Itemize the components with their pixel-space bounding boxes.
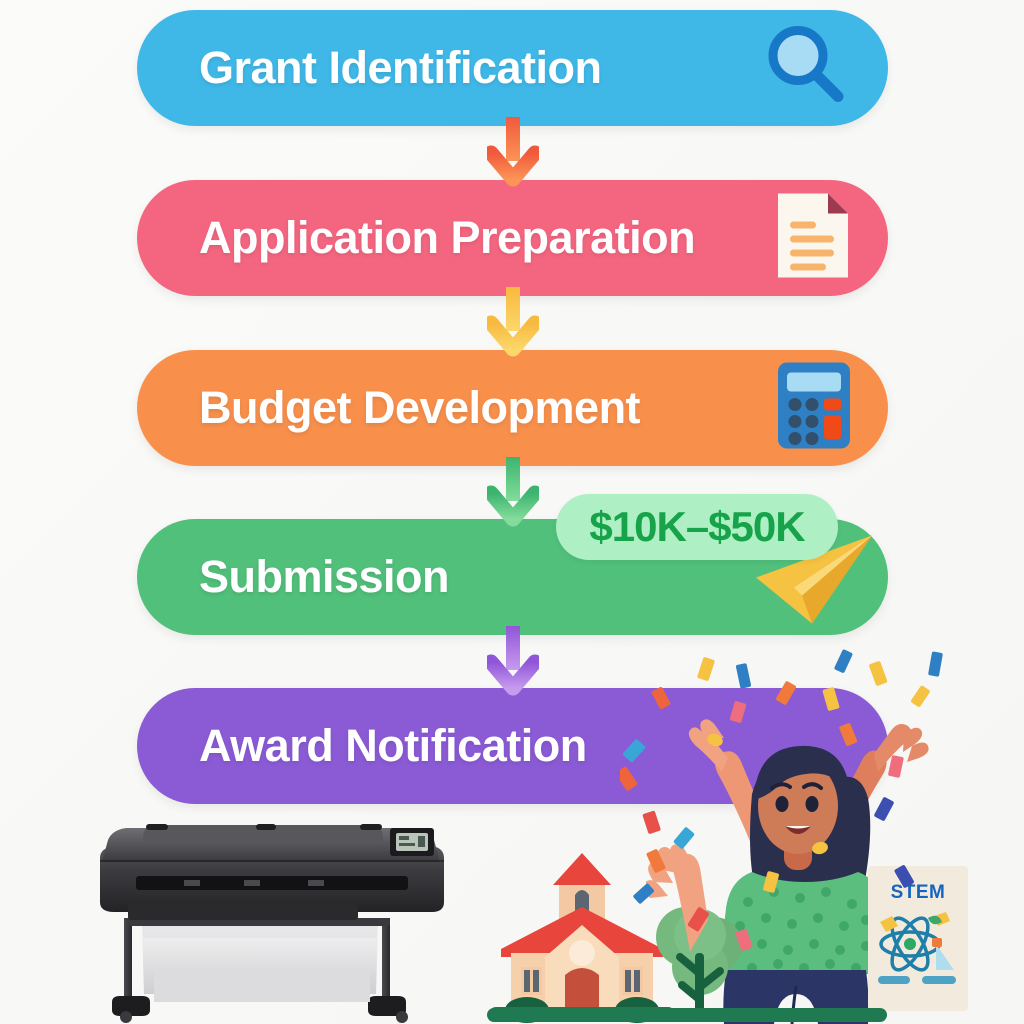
ground-bar — [487, 1008, 887, 1022]
flow-arrow-3 — [487, 457, 539, 531]
calculator-icon — [774, 360, 854, 457]
infographic-canvas: Grant Identification Application Prepara… — [0, 0, 1024, 1024]
flow-step-label: Submission — [199, 551, 449, 603]
flow-step-label: Grant Identification — [199, 42, 602, 94]
flow-arrow-1 — [487, 117, 539, 191]
flow-step-application-preparation[interactable]: Application Preparation — [137, 180, 888, 296]
magnifying-glass-icon — [758, 18, 854, 119]
flow-step-label: Award Notification — [199, 720, 587, 772]
flow-step-label: Application Preparation — [199, 212, 695, 264]
amount-badge: $10K–$50K — [556, 494, 838, 560]
confetti-pieces — [620, 640, 1024, 1000]
large-format-plotter-printer — [86, 818, 476, 1024]
amount-badge-text: $10K–$50K — [589, 503, 804, 551]
flow-step-grant-identification[interactable]: Grant Identification — [137, 10, 888, 126]
flow-step-label: Budget Development — [199, 382, 640, 434]
document-icon — [772, 190, 854, 287]
flow-arrow-4 — [487, 626, 539, 700]
flow-step-budget-development[interactable]: Budget Development — [137, 350, 888, 466]
flow-arrow-2 — [487, 287, 539, 361]
